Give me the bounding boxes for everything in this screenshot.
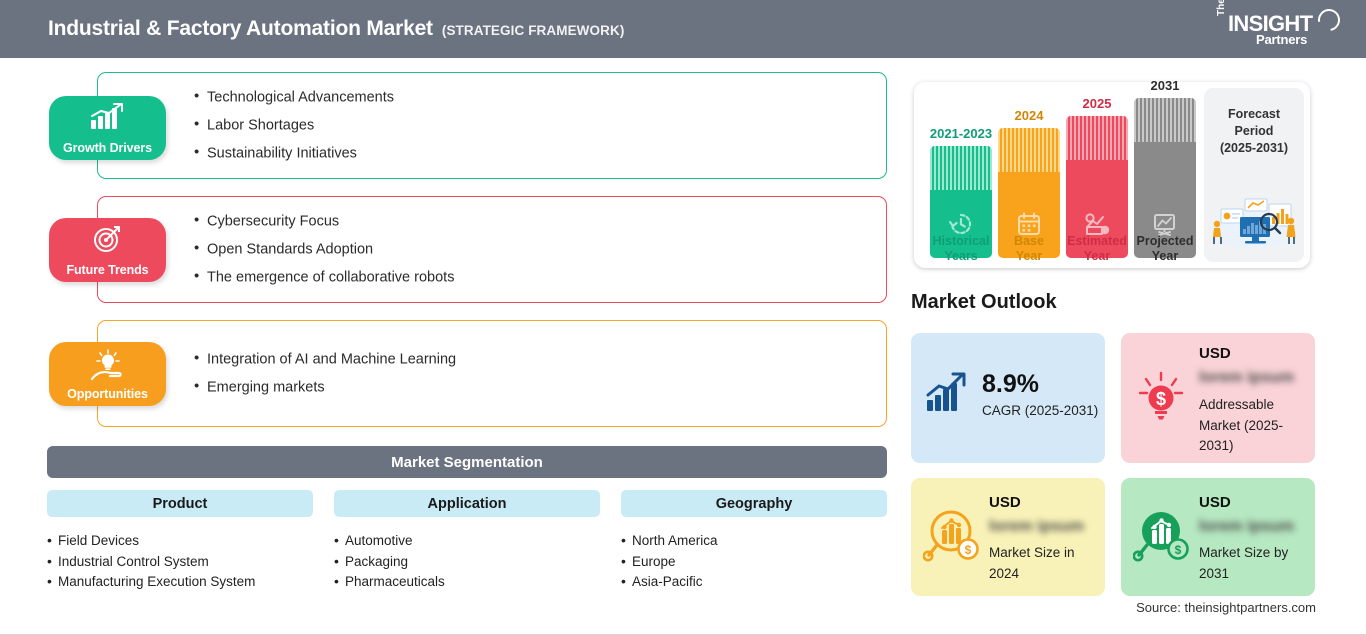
bar-chart-arrow-icon (925, 371, 971, 420)
page-title: Industrial & Factory Automation Market (48, 17, 433, 41)
segmentation-column-label: Application (428, 496, 507, 512)
list-item: The emergence of collaborative robots (194, 264, 454, 292)
magnifier-chart-dollar-icon: $ (923, 508, 981, 569)
list-item: Manufacturing Execution System (47, 572, 313, 593)
segmentation-column-header: Product (47, 490, 313, 517)
segmentation-column-product: Product Field Devices Industrial Control… (47, 490, 313, 593)
market-outlook-title: Market Outlook (911, 291, 1057, 314)
list-item: Asia-Pacific (621, 572, 887, 593)
cagr-content: 8.9% CAGR (2025-2031) (925, 371, 1098, 420)
segmentation-column-geography: Geography North America Europe Asia-Paci… (621, 490, 887, 593)
future-trends-list: Cybersecurity Focus Open Standards Adopt… (194, 207, 454, 292)
forecast-line-3: (2025-2031) (1220, 141, 1288, 155)
list-item: Automotive (334, 531, 600, 552)
currency-label: USD (1199, 494, 1231, 511)
list-item: Sustainability Initiatives (194, 140, 394, 168)
timeline-bar-year: 2031 (1151, 78, 1180, 93)
timeline-bar-stripes (998, 128, 1060, 172)
outlook-card-market-size-2024: $ USD lorem ipsum Market Size in 2024 (911, 478, 1105, 596)
timeline-bar-base: 2024 Bas (998, 82, 1060, 268)
market-segmentation-title: Market Segmentation (391, 454, 543, 471)
segmentation-column-header: Geography (621, 490, 887, 517)
market-size-2024-value: lorem ipsum (989, 518, 1084, 536)
forecast-line-2: Period (1235, 124, 1274, 138)
cagr-value: 8.9% (982, 371, 1098, 397)
timeline-bar-stripes (930, 146, 992, 190)
badge-future-trends[interactable]: Future Trends (49, 218, 166, 282)
timeline-bar-year: 2025 (1083, 96, 1112, 111)
market-size-2031-label: Market Size by 2031 (1199, 543, 1307, 584)
segmentation-items: Automotive Packaging Pharmaceuticals (334, 531, 600, 593)
panel-opportunities: Integration of AI and Machine Learning E… (97, 320, 887, 427)
list-item: Integration of AI and Machine Learning (194, 345, 456, 373)
logo-the-text: The (1216, 0, 1227, 16)
magnifier-chart-dollar-icon: $ (1133, 508, 1191, 569)
list-item: Packaging (334, 552, 600, 573)
currency-label: USD (1199, 345, 1231, 362)
timeline-bar-caption: HistoricalYears (933, 234, 990, 263)
market-segmentation-header: Market Segmentation (47, 446, 887, 478)
logo-partners-text: Partners (1256, 32, 1307, 47)
growth-drivers-list: Technological Advancements Labor Shortag… (194, 83, 394, 168)
lightbulb-hand-icon (88, 349, 128, 386)
cagr-label: CAGR (2025-2031) (982, 403, 1098, 418)
insight-partners-logo: The INSIGHT Partners (1216, 7, 1344, 51)
timeline-bar-caption: ProjectedYear (1137, 234, 1194, 263)
panel-future-trends: Cybersecurity Focus Open Standards Adopt… (97, 196, 887, 303)
segmentation-column-label: Geography (716, 496, 793, 512)
timeline-bar-caption: EstimatedYear (1067, 234, 1127, 263)
timeline-bar-projected: 2031 ProjectedYear (1134, 82, 1196, 268)
timeline-bar-estimated: 2025 EstimatedYear (1066, 82, 1128, 268)
timeline-bar-historical: 2021-2023 HistoricalYears (930, 82, 992, 268)
svg-text:$: $ (965, 543, 972, 557)
badge-label: Opportunities (67, 387, 148, 401)
timeline-bar-caption: BaseYear (1014, 234, 1044, 263)
list-item: Industrial Control System (47, 552, 313, 573)
badge-label: Future Trends (66, 263, 148, 277)
infographic-page: Industrial & Factory Automation Market (… (0, 0, 1366, 635)
badge-label: Growth Drivers (63, 141, 152, 155)
target-dartboard-icon (91, 225, 125, 258)
header-title-group: Industrial & Factory Automation Market (… (48, 17, 624, 41)
timeline-bar-year: 2021-2023 (930, 126, 992, 141)
logo-arc-icon (1314, 5, 1345, 36)
list-item: Field Devices (47, 531, 313, 552)
forecast-line-1: Forecast (1228, 107, 1280, 121)
segmentation-column-header: Application (334, 490, 600, 517)
addressable-market-label: Addressable Market (2025-2031) (1199, 395, 1307, 457)
lightbulb-dollar-icon: $ (1135, 371, 1187, 430)
badge-opportunities[interactable]: Opportunities (49, 342, 166, 406)
list-item: Open Standards Adoption (194, 235, 454, 263)
list-item: Pharmaceuticals (334, 572, 600, 593)
segmentation-column-label: Product (153, 496, 208, 512)
segmentation-items: North America Europe Asia-Pacific (621, 531, 887, 593)
panel-growth-drivers: Technological Advancements Labor Shortag… (97, 72, 887, 179)
source-attribution: Source: theinsightpartners.com (1136, 600, 1316, 615)
forecast-period-panel: Forecast Period (2025-2031) (1204, 88, 1304, 262)
cagr-text-group: 8.9% CAGR (2025-2031) (982, 371, 1098, 418)
timeline-bar-year: 2024 (1015, 108, 1044, 123)
badge-growth-drivers[interactable]: Growth Drivers (49, 96, 166, 160)
list-item: Emerging markets (194, 374, 456, 402)
list-item: Cybersecurity Focus (194, 207, 454, 235)
analytics-dashboard-illustration (1207, 191, 1301, 254)
outlook-card-market-size-2031: $ USD lorem ipsum Market Size by 2031 (1121, 478, 1315, 596)
segmentation-column-application: Application Automotive Packaging Pharmac… (334, 490, 600, 593)
market-size-2031-value: lorem ipsum (1199, 518, 1294, 536)
market-size-2024-label: Market Size in 2024 (989, 543, 1097, 584)
page-header: Industrial & Factory Automation Market (… (0, 0, 1366, 58)
timeline-card: 2021-2023 HistoricalYears 2024 (914, 82, 1310, 268)
outlook-card-addressable-market: $ USD lorem ipsum Addressable Market (20… (1121, 333, 1315, 463)
list-item: Labor Shortages (194, 111, 394, 139)
list-item: Technological Advancements (194, 83, 394, 111)
timeline-bar-stripes (1066, 116, 1128, 160)
svg-text:$: $ (1156, 389, 1166, 409)
svg-text:$: $ (1175, 543, 1182, 557)
addressable-market-value: lorem ipsum (1199, 369, 1294, 387)
page-subtitle: (STRATEGIC FRAMEWORK) (442, 23, 625, 38)
timeline-bar-stripes (1134, 98, 1196, 142)
opportunities-list: Integration of AI and Machine Learning E… (194, 345, 456, 402)
list-item: North America (621, 531, 887, 552)
currency-label: USD (989, 494, 1021, 511)
list-item: Europe (621, 552, 887, 573)
segmentation-items: Field Devices Industrial Control System … (47, 531, 313, 593)
outlook-card-cagr: 8.9% CAGR (2025-2031) (911, 333, 1105, 463)
bar-chart-growth-icon (89, 103, 127, 136)
forecast-period-text: Forecast Period (2025-2031) (1204, 106, 1304, 157)
